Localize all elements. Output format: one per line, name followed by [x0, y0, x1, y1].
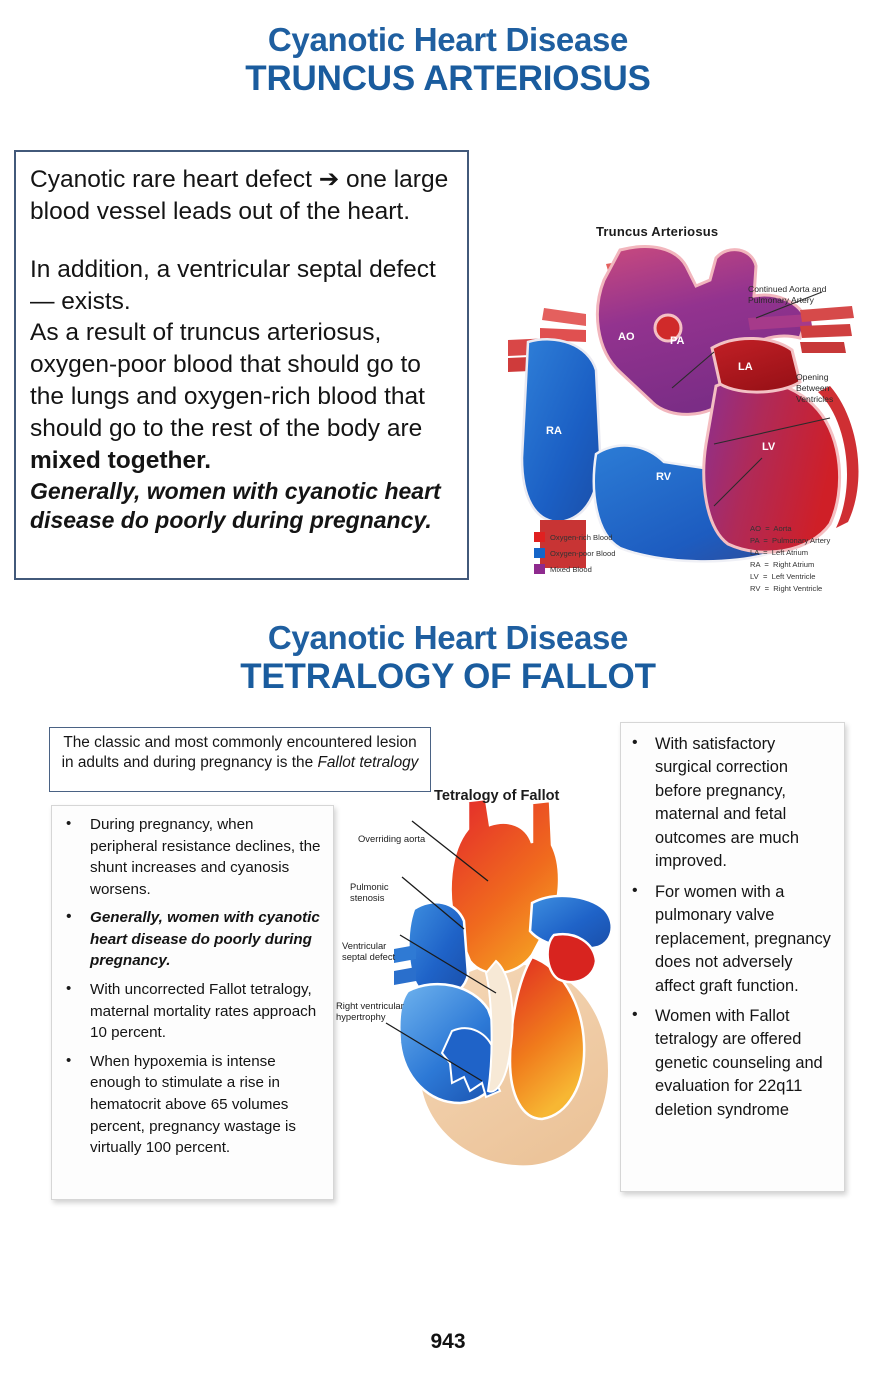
- paragraph-spacer: [30, 228, 453, 254]
- legend-oxygen-poor-blood: Oxygen-poor Blood: [534, 548, 615, 558]
- truncus-title-block: Cyanotic Heart Disease TRUNCUS ARTERIOSU…: [0, 22, 896, 98]
- list-item: With satisfactory surgical correction be…: [625, 733, 836, 874]
- label-PA: PA: [670, 335, 685, 347]
- fallot-classic-text: The classic and most commonly encountere…: [56, 733, 424, 774]
- fallot-label-right-ventricular-hypertrophy: Right ventricular hypertrophy: [336, 1000, 404, 1023]
- list-item: With uncorrected Fallot tetralogy, mater…: [58, 979, 323, 1044]
- callout-opening-line-1: Opening: [796, 372, 829, 382]
- truncus-description-box: Cyanotic rare heart defect ➔ one large b…: [14, 150, 469, 580]
- callout-line-2: Pulmonary Artery: [748, 295, 814, 305]
- label-AO: AO: [618, 331, 635, 343]
- fallot-classic-lesion-box: The classic and most commonly encountere…: [49, 727, 431, 792]
- label-RV: RV: [656, 471, 672, 483]
- label-RA: RA: [546, 425, 562, 437]
- truncus-callout-continued-aorta: Continued Aorta and Pulmonary Artery: [748, 284, 826, 306]
- legend-oxygen-rich-blood: Oxygen-rich Blood: [534, 532, 612, 542]
- fallot-right-bullet-list: With satisfactory surgical correction be…: [625, 733, 836, 1122]
- list-item: For women with a pulmonary valve replace…: [625, 881, 836, 998]
- rvh-line-2: hypertrophy: [336, 1011, 386, 1022]
- legend-mixed-blood: Mixed Blood: [534, 564, 592, 574]
- truncus-italic-note: Generally, women with cyanotic heart dis…: [30, 477, 453, 537]
- truncus-paragraph-2b: As a result of truncus arteriosus, oxyge…: [30, 317, 453, 476]
- fallot-left-bullet-panel: During pregnancy, when peripheral resist…: [51, 805, 334, 1200]
- truncus-paragraph-1: Cyanotic rare heart defect ➔ one large b…: [30, 164, 453, 228]
- legend-label-oxygen-poor: Oxygen-poor Blood: [550, 549, 615, 558]
- swatch-mixed: [534, 564, 545, 574]
- abbr-aorta: AO = Aorta: [750, 524, 792, 533]
- truncus-mixed-together-emphasis: mixed together.: [30, 447, 211, 474]
- list-item: During pregnancy, when peripheral resist…: [58, 814, 323, 900]
- fallot-figure-caption: Tetralogy of Fallot: [434, 788, 559, 804]
- callout-opening-line-3: Ventricles: [796, 394, 833, 404]
- list-item: Generally, women with cyanotic heart dis…: [58, 907, 323, 972]
- abbr-right-atrium: RA = Right Atrium: [750, 560, 814, 569]
- truncus-callout-opening-between-ventricles: Opening Between Ventricles: [796, 372, 833, 404]
- page-number: 943: [0, 1330, 896, 1354]
- callout-line-1: Continued Aorta and: [748, 284, 826, 294]
- fallot-right-bullet-panel: With satisfactory surgical correction be…: [620, 722, 845, 1192]
- abbr-pulmonary-artery: PA = Pulmonary Artery: [750, 536, 830, 545]
- truncus-paragraph-2a: In addition, a ventricular septal defect…: [30, 254, 453, 318]
- abbr-right-ventricle: RV = Right Ventricle: [750, 584, 822, 593]
- legend-label-oxygen-rich: Oxygen-rich Blood: [550, 533, 612, 542]
- pulmonic-stenosis-line-1: Pulmonic: [350, 881, 389, 892]
- fallot-classic-text-italic: Fallot tetralogy: [317, 754, 418, 771]
- fallot-heart-illustration: [336, 785, 620, 1190]
- label-LA: LA: [738, 361, 753, 373]
- callout-opening-line-2: Between: [796, 383, 829, 393]
- fallot-title-block: Cyanotic Heart Disease TETRALOGY OF FALL…: [0, 620, 896, 696]
- swatch-oxygen-poor: [534, 548, 545, 558]
- fallot-label-ventricular-septal-defect: Ventricular septal defect: [342, 940, 395, 963]
- list-item: When hypoxemia is intense enough to stim…: [58, 1051, 323, 1159]
- truncus-figure-caption: Truncus Arteriosus: [596, 224, 718, 239]
- truncus-title-line2: TRUNCUS ARTERIOSUS: [0, 59, 896, 98]
- truncus-arteriosus-figure: Truncus Arteriosus: [500, 222, 892, 590]
- vsd-line-1: Ventricular: [342, 940, 386, 951]
- swatch-oxygen-rich: [534, 532, 545, 542]
- list-item: Women with Fallot tetralogy are offered …: [625, 1005, 836, 1122]
- abbr-left-ventricle: LV = Left Ventricle: [750, 572, 816, 581]
- fallot-left-bullet-list: During pregnancy, when peripheral resist…: [58, 814, 323, 1159]
- pulmonic-stenosis-line-2: stenosis: [350, 892, 384, 903]
- vsd-line-2: septal defect: [342, 951, 395, 962]
- abbr-left-atrium: LA = Left Atrium: [750, 548, 808, 557]
- truncus-paragraph-2b-text: As a result of truncus arteriosus, oxyge…: [30, 319, 425, 442]
- label-LV: LV: [762, 441, 776, 453]
- fallot-title-line1: Cyanotic Heart Disease: [0, 620, 896, 657]
- legend-label-mixed: Mixed Blood: [550, 565, 592, 574]
- rvh-line-1: Right ventricular: [336, 1000, 404, 1011]
- fallot-title-line2: TETRALOGY OF FALLOT: [0, 657, 896, 696]
- fallot-label-overriding-aorta: Overriding aorta: [358, 833, 425, 844]
- fallot-label-pulmonic-stenosis: Pulmonic stenosis: [350, 881, 389, 904]
- tetralogy-of-fallot-figure: Tetralogy of Fallot: [336, 785, 620, 1190]
- truncus-title-line1: Cyanotic Heart Disease: [0, 22, 896, 59]
